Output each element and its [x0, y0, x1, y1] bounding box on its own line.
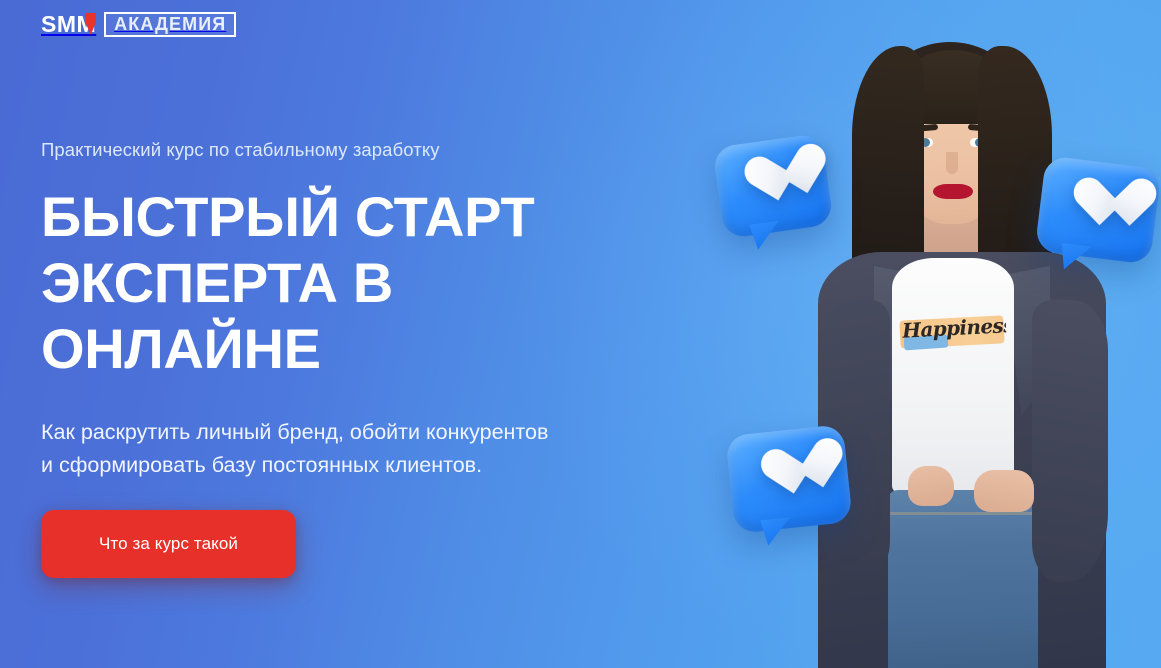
heart-like-bubble-icon — [1035, 155, 1161, 264]
site-logo[interactable]: SMM АКАДЕМИЯ — [41, 12, 236, 37]
page-title: БЫСТРЫЙ СТАРТ ЭКСПЕРТА В ОНЛАЙНЕ — [41, 184, 601, 382]
model-jeans — [888, 490, 1038, 668]
model-nose — [946, 152, 958, 174]
model-arm-right — [1032, 300, 1108, 582]
hero-description-line-2: и сформировать базу постоянных клиентов. — [41, 449, 659, 482]
model-lips — [933, 184, 973, 199]
hero-eyebrow: Практический курс по стабильному заработ… — [41, 138, 681, 162]
logo-badge: АКАДЕМИЯ — [104, 12, 236, 37]
logo-mark: SMM — [41, 12, 99, 37]
heart-like-bubble-icon — [712, 133, 834, 239]
hero-section: SMM АКАДЕМИЯ Практический курс по стабил… — [0, 0, 1161, 668]
heart-icon — [1071, 179, 1130, 234]
model-hand-right — [974, 470, 1034, 512]
hero-description-line-1: Как раскрутить личный бренд, обойти конк… — [41, 416, 659, 449]
hero-description: Как раскрутить личный бренд, обойти конк… — [41, 416, 659, 481]
what-is-this-course-button[interactable]: Что за курс такой — [41, 510, 296, 578]
model-tshirt — [892, 258, 1014, 494]
model-photo: Happiness — [760, 0, 1160, 668]
hero-copy: Практический курс по стабильному заработ… — [41, 138, 681, 578]
heart-like-bubble-icon — [725, 424, 853, 534]
model-hand-left — [908, 466, 954, 506]
